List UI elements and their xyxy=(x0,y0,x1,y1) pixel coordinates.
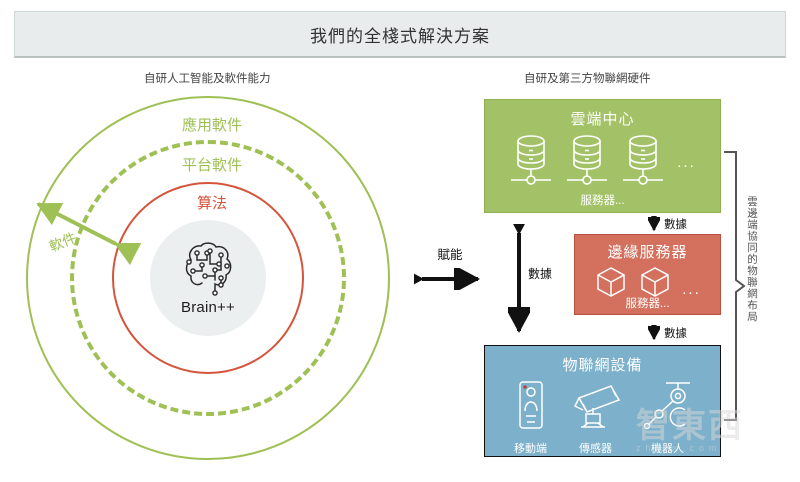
panel-cloud-subtitle: 服務器... xyxy=(485,192,720,208)
iot-device-mobile: 移動端 xyxy=(514,380,548,456)
double-arrow-vertical-icon xyxy=(648,216,660,239)
iot-device-robot: 機器人 xyxy=(644,380,692,456)
mobile-phone-icon xyxy=(514,380,548,437)
data-label-cloud-edge: 數據 xyxy=(664,216,687,232)
page-title: 我們的全棧式解決方案 xyxy=(310,22,490,47)
panel-edge-subtitle: 服務器... xyxy=(575,295,720,311)
robot-arm-icon xyxy=(644,380,692,437)
panel-iot-title: 物聯網設備 xyxy=(485,354,720,375)
server-stack-icon xyxy=(509,132,553,193)
security-camera-icon xyxy=(569,380,623,437)
iot-device-robot-label: 機器人 xyxy=(651,440,684,456)
panel-iot-devices: 物聯網設備 移動端 xyxy=(484,345,721,457)
server-stack-icon xyxy=(621,132,665,193)
panel-cloud-title: 雲端中心 xyxy=(485,108,720,129)
cloud-ellipsis: ... xyxy=(677,154,696,171)
enable-label: 賦能 xyxy=(414,244,486,263)
brain-core: Brain++ xyxy=(150,220,266,336)
panel-cloud-center: 雲端中心 xyxy=(484,99,721,213)
software-span-arrow xyxy=(16,182,146,282)
panel-edge-title: 邊緣服務器 xyxy=(575,241,720,262)
brain-label: Brain++ xyxy=(181,299,235,316)
iot-device-sensor: 傳感器 xyxy=(569,380,623,456)
ring-label-platform: 平台軟件 xyxy=(22,154,402,175)
brain-circuit-icon xyxy=(177,240,239,298)
data-label-edge-iot: 數據 xyxy=(664,325,687,341)
ring-label-application: 應用軟件 xyxy=(22,114,402,135)
iot-device-sensor-label: 傳感器 xyxy=(579,440,612,456)
double-arrow-vertical-icon xyxy=(648,325,660,348)
enable-connector: 賦能 xyxy=(414,244,486,300)
diagram-canvas: 我們的全棧式解決方案 自研人工智能及軟件能力 自研及第三方物聯網硬件 應用軟件 … xyxy=(0,0,800,482)
panel-edge-server: 邊緣服務器 ... 服務器... xyxy=(574,234,721,315)
double-arrow-horizontal-icon xyxy=(414,268,486,295)
bracket-label: 雲邊端協同的物聯網布局 xyxy=(745,196,760,323)
iot-device-mobile-label: 移動端 xyxy=(514,440,547,456)
caption-right-column: 自研及第三方物聯網硬件 xyxy=(524,70,651,86)
cloud-icon-row: ... xyxy=(485,132,720,193)
server-stack-icon xyxy=(565,132,609,193)
header-bar: 我們的全棧式解決方案 xyxy=(14,11,786,58)
data-label-vertical-span: 數據 xyxy=(528,265,552,282)
caption-left-column: 自研人工智能及軟件能力 xyxy=(144,70,271,86)
double-arrow-vertical-large-icon xyxy=(508,224,530,345)
iot-icon-row: 移動端 傳感器 xyxy=(485,380,720,456)
